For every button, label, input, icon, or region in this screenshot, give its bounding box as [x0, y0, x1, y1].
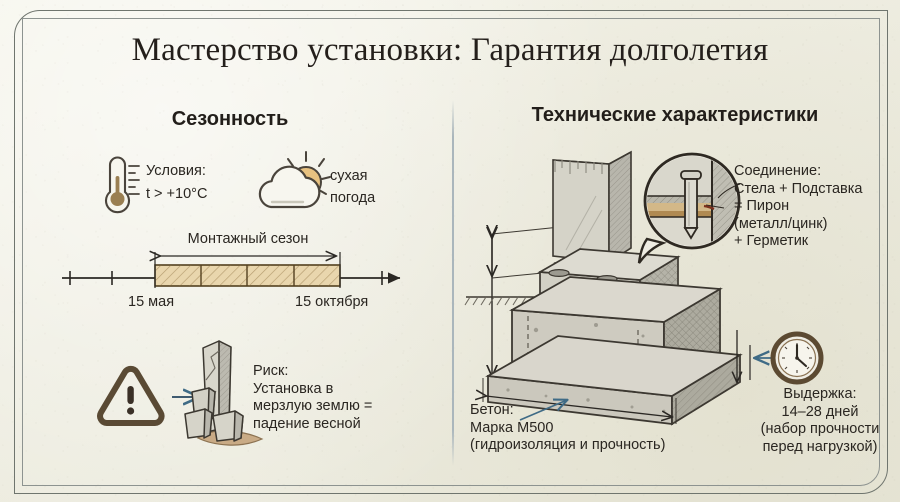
- concrete-label: Бетон: Марка М500 (гидроизоляция и прочн…: [470, 402, 665, 455]
- weather-label-line1: сухая: [330, 168, 368, 186]
- condition-label-line1: Условия:: [146, 163, 206, 181]
- weather-label-line2: погода: [330, 190, 375, 208]
- risk-label: Риск: Установка в мерзлую землю = падени…: [253, 363, 372, 433]
- infographic-canvas: Мастерство установки: Гарантия долголети…: [0, 0, 900, 502]
- curing-label: Выдержка: 14–28 дней (набор прочности пе…: [744, 386, 896, 456]
- condition-label-line2: t > +10°C: [146, 186, 207, 204]
- clock-icon: [773, 334, 821, 382]
- timeline-end-label: 15 октября: [295, 294, 368, 312]
- magnifier-bubble-pin-icon: [639, 154, 740, 263]
- timeline-band-label: Монтажный сезон: [155, 231, 341, 249]
- timeline-start-label: 15 мая: [128, 294, 174, 312]
- joint-callout-label: Соединение: Стела + Подставка = Пирон (м…: [734, 163, 862, 251]
